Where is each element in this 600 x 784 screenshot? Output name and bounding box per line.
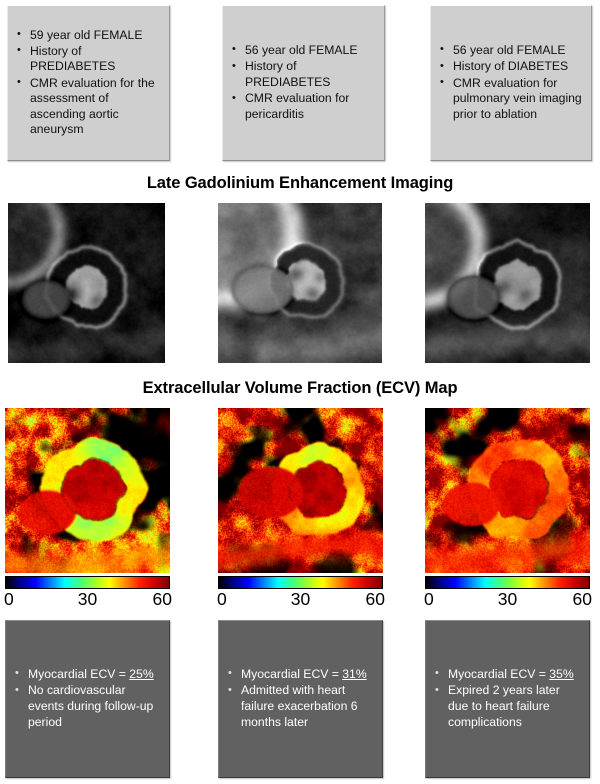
case-outcome-box-1: Myocardial ECV = 25% No cardiovascular e… (5, 620, 170, 778)
ecv-label: Myocardial ECV = (28, 667, 129, 681)
case-outcome-list-2: Myocardial ECV = 31% Admitted with heart… (226, 667, 376, 731)
case-history-box-2: 56 year old FEMALE History of PREDIABETE… (222, 5, 385, 161)
ecv-map-case-1 (5, 408, 170, 573)
case-history-item: 56 year old FEMALE (438, 43, 585, 58)
case-outcome-note: No cardiovascular events during follow-u… (13, 683, 163, 730)
ecv-colorbar-2 (218, 576, 383, 589)
ecv-colorbar-group-3: 0 30 60 (425, 576, 590, 609)
ecv-colorbar-group-2: 0 30 60 (218, 576, 383, 609)
colorbar-label-low: 0 (424, 589, 434, 609)
case-outcome-ecv: Myocardial ECV = 25% (13, 667, 163, 683)
case-history-item: History of DIABETES (438, 59, 585, 74)
ecv-colorbar-labels-1: 0 30 60 (5, 589, 170, 609)
case-history-list-1: 59 year old FEMALE History of PREDIABETE… (15, 28, 163, 139)
case-outcome-list-1: Myocardial ECV = 25% No cardiovascular e… (13, 667, 163, 731)
case-outcome-list-3: Myocardial ECV = 35% Expired 2 years lat… (433, 667, 583, 731)
ecv-map-case-2 (218, 408, 383, 573)
lge-image-case-1 (8, 203, 165, 363)
case-history-item: 56 year old FEMALE (230, 43, 378, 58)
colorbar-label-low: 0 (4, 589, 14, 609)
case-history-box-3: 56 year old FEMALE History of DIABETES C… (430, 5, 592, 161)
colorbar-label-high: 60 (366, 589, 385, 609)
ecv-colorbar-3 (425, 576, 590, 589)
section-title-lge: Late Gadolinium Enhancement Imaging (0, 174, 600, 193)
lge-image-case-3 (425, 203, 590, 363)
colorbar-label-high: 60 (153, 589, 172, 609)
ecv-label: Myocardial ECV = (241, 667, 342, 681)
colorbar-label-mid: 30 (498, 589, 517, 609)
lge-image-case-2 (218, 203, 382, 363)
case-history-list-3: 56 year old FEMALE History of DIABETES C… (438, 43, 585, 123)
ecv-colorbar-group-1: 0 30 60 (5, 576, 170, 609)
case-history-item: 59 year old FEMALE (15, 28, 163, 43)
colorbar-label-low: 0 (217, 589, 227, 609)
section-title-ecv: Extracellular Volume Fraction (ECV) Map (0, 379, 600, 398)
case-history-item: CMR evaluation for pericarditis (230, 91, 378, 122)
case-history-item: History of PREDIABETES (230, 59, 378, 90)
case-outcome-ecv: Myocardial ECV = 35% (433, 667, 583, 683)
case-outcome-note: Expired 2 years later due to heart failu… (433, 683, 583, 730)
ecv-colorbar-labels-3: 0 30 60 (425, 589, 590, 609)
ecv-colorbar-labels-2: 0 30 60 (218, 589, 383, 609)
ecv-value: 31% (342, 667, 366, 681)
case-history-item: CMR evaluation for pulmonary vein imagin… (438, 76, 585, 122)
ecv-colorbar-1 (5, 576, 170, 589)
case-history-item: CMR evaluation for the assessment of asc… (15, 76, 163, 138)
colorbar-label-high: 60 (573, 589, 592, 609)
case-outcome-box-3: Myocardial ECV = 35% Expired 2 years lat… (425, 620, 590, 778)
ecv-label: Myocardial ECV = (448, 667, 549, 681)
ecv-value: 35% (549, 667, 573, 681)
case-outcome-box-2: Myocardial ECV = 31% Admitted with heart… (218, 620, 383, 778)
case-history-list-2: 56 year old FEMALE History of PREDIABETE… (230, 43, 378, 123)
colorbar-label-mid: 30 (78, 589, 97, 609)
ecv-map-case-3 (425, 408, 590, 573)
ecv-value: 25% (129, 667, 153, 681)
case-history-box-1: 59 year old FEMALE History of PREDIABETE… (7, 5, 170, 161)
case-outcome-ecv: Myocardial ECV = 31% (226, 667, 376, 683)
colorbar-label-mid: 30 (291, 589, 310, 609)
case-history-item: History of PREDIABETES (15, 44, 163, 75)
case-outcome-note: Admitted with heart failure exacerbation… (226, 683, 376, 730)
